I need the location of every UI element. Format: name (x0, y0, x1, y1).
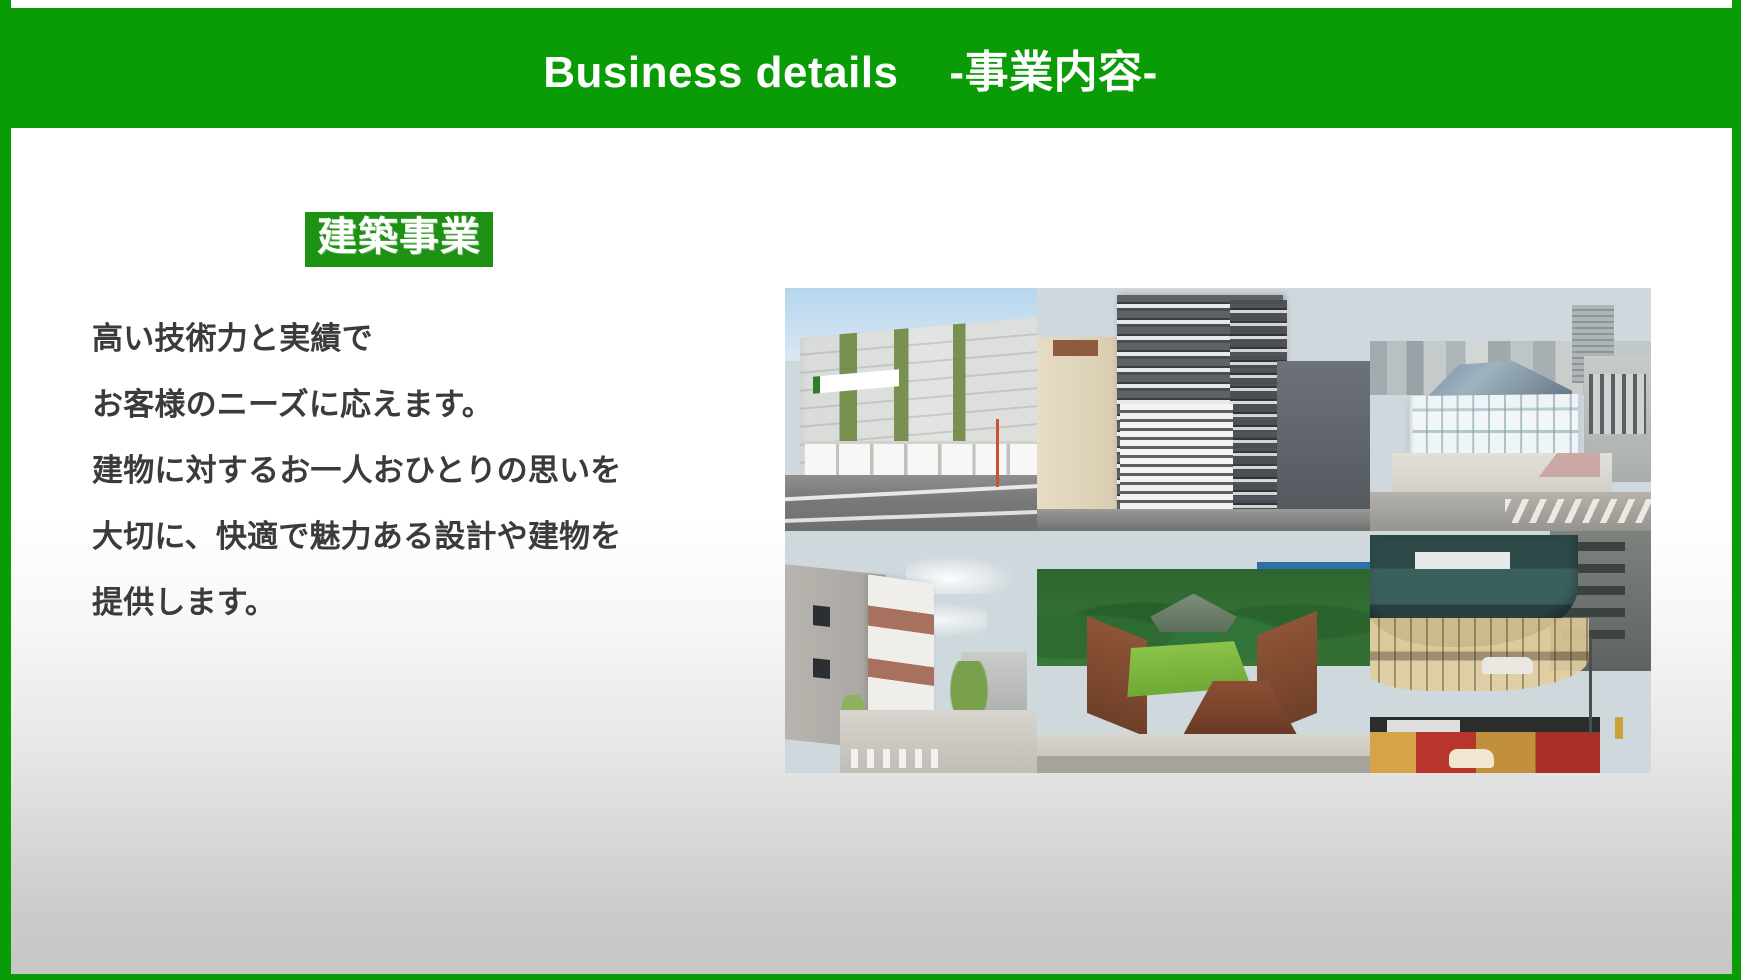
shrine-aerial-photo (1037, 531, 1370, 774)
showroom-top-sign (1415, 552, 1511, 569)
paving-pattern (851, 749, 942, 768)
adjacent-building (1037, 337, 1124, 531)
low-rise-apartment-photo (785, 531, 1037, 774)
body-line: 高い技術力と実績で (92, 306, 732, 372)
frame-bottom-border (0, 974, 1741, 980)
traffic-pole (996, 419, 999, 487)
section-badge: 建築事業 (305, 212, 493, 267)
body-line: 大切に、快適で魅力ある設計や建物を (92, 504, 732, 570)
body-line: 提供します。 (92, 570, 732, 636)
body-line: 建物に対するお一人おひとりの思いを (92, 438, 732, 504)
slide-canvas: Business details -事業内容- 建築事業 高い技術力と実績で お… (0, 0, 1741, 980)
display-car-lower (1449, 749, 1494, 768)
residential-tower-photo (1037, 288, 1370, 531)
tower-balcony-stack (1120, 404, 1233, 520)
frame-right-border (1732, 0, 1741, 980)
project-photo-gallery (785, 288, 1651, 773)
page-title: Business details -事業内容- (0, 8, 1741, 128)
showroom-ground-sign (1387, 720, 1460, 732)
slide-content-area: 建築事業 高い技術力と実績で お客様のニーズに応えます。 建物に対するお一人おひ… (11, 128, 1732, 974)
body-line: お客様のニーズに応えます。 (92, 372, 732, 438)
ferrari-showroom-photo (1370, 531, 1651, 774)
logistics-warehouse-photo (785, 288, 1037, 531)
front-road (1037, 756, 1370, 773)
background-building (1277, 361, 1370, 531)
slide-header-bar: Business details -事業内容- (0, 8, 1741, 128)
main-road (1370, 492, 1651, 531)
showroom-glass-floor (1370, 618, 1589, 691)
loading-dock-doors (805, 441, 1037, 477)
street-level (1037, 509, 1370, 531)
display-car-upper (1482, 657, 1533, 674)
body-paragraph: 高い技術力と実績で お客様のニーズに応えます。 建物に対するお一人おひとりの思い… (92, 306, 732, 636)
traffic-signal (1615, 717, 1623, 739)
street-light-pole (1589, 637, 1592, 734)
civic-glass-building-photo (1370, 288, 1651, 531)
frame-left-border (0, 0, 11, 980)
